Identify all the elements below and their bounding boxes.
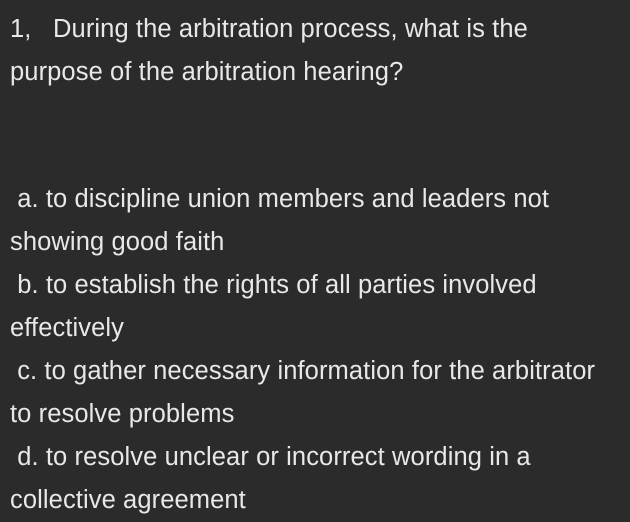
option-a[interactable]: a. to discipline union members and leade… bbox=[10, 178, 622, 264]
options-list: a. to discipline union members and leade… bbox=[0, 178, 630, 522]
option-b[interactable]: b. to establish the rights of all partie… bbox=[10, 264, 622, 350]
question-text: 1, During the arbitration process, what … bbox=[10, 8, 622, 94]
option-c[interactable]: c. to gather necessary information for t… bbox=[10, 350, 622, 436]
question-block: 1, During the arbitration process, what … bbox=[0, 8, 630, 94]
question-screen: 1, During the arbitration process, what … bbox=[0, 0, 630, 510]
option-d[interactable]: d. to resolve unclear or incorrect wordi… bbox=[10, 436, 622, 522]
